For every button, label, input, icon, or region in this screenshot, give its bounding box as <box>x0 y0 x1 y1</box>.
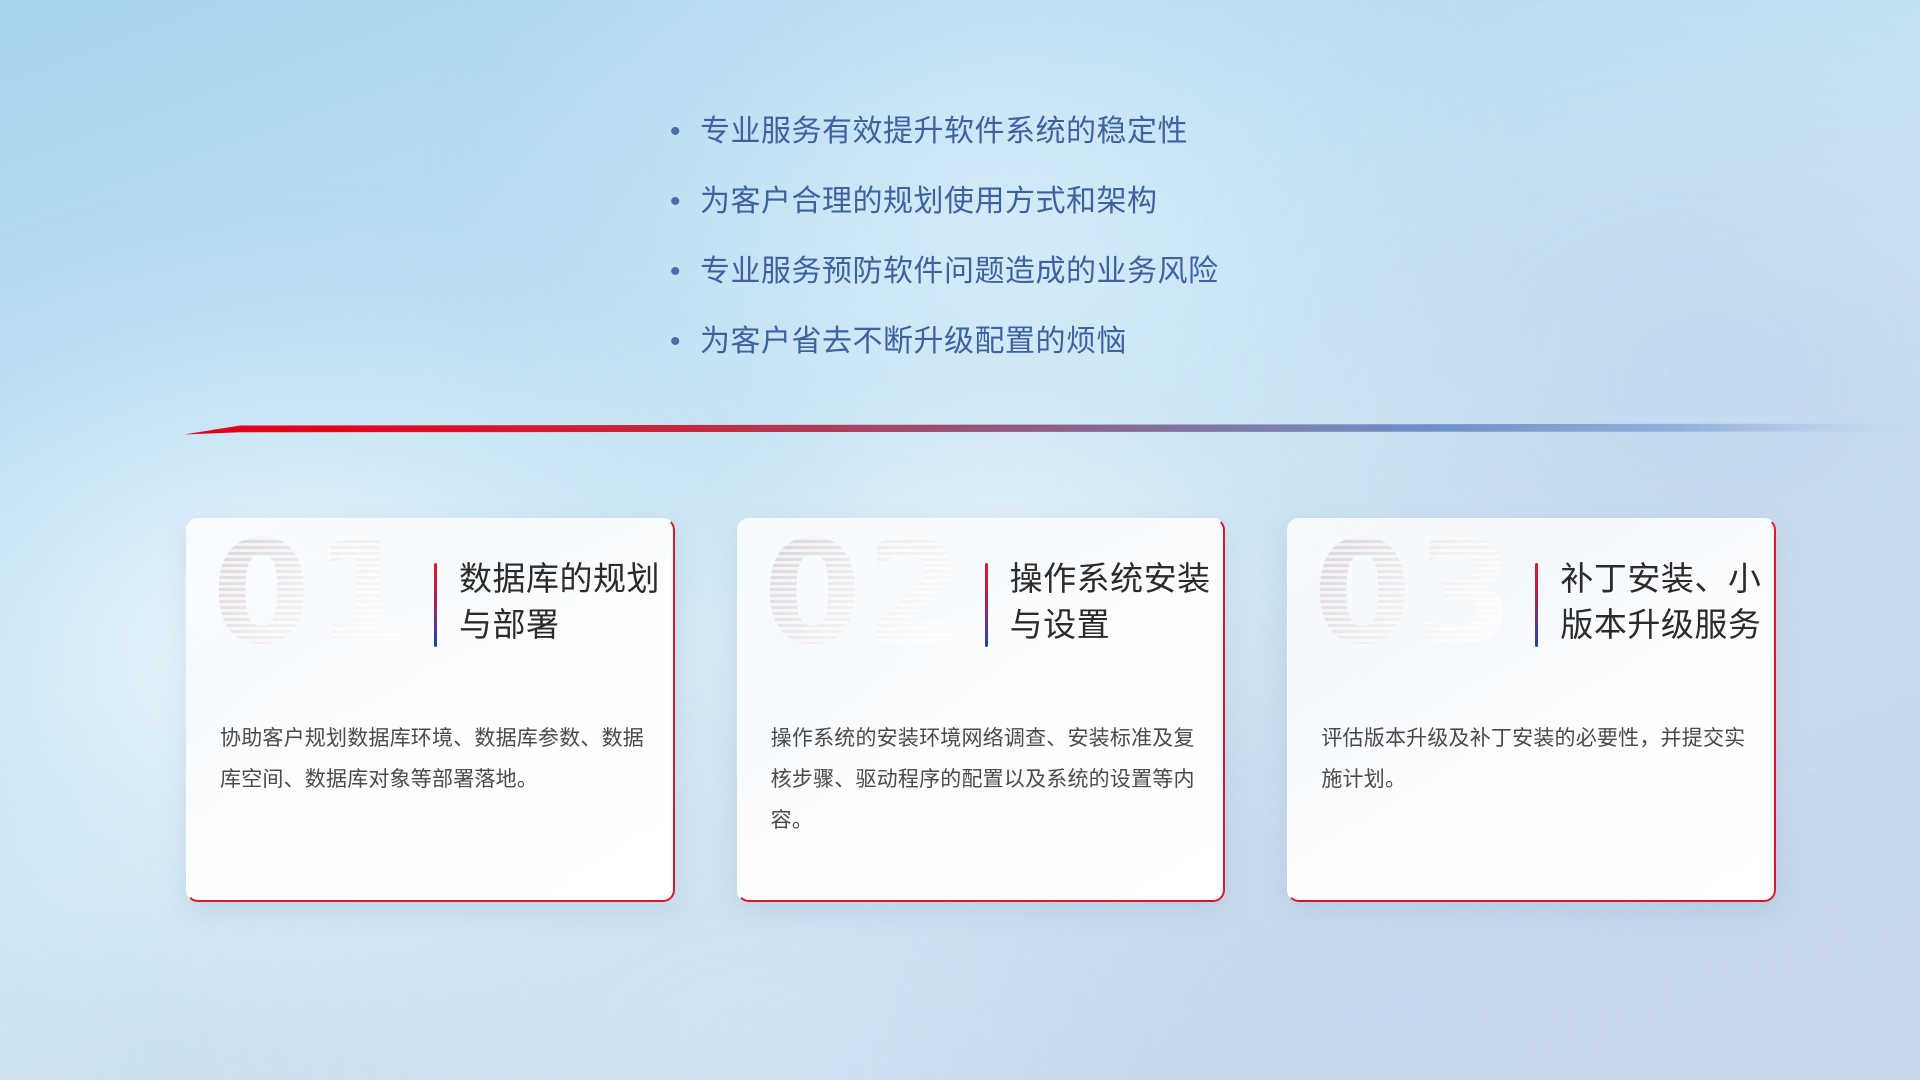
striped-numeral-graphic: 03 <box>1313 534 1503 664</box>
card-number-02-decoration: 02 <box>763 534 953 664</box>
card-body-text: 协助客户规划数据库环境、数据库参数、数据库空间、数据库对象等部署落地。 <box>220 718 649 800</box>
striped-numeral-graphic: 02 <box>763 534 953 664</box>
service-card-01[interactable]: 01 数据库的规划与部署 协助客户规划数据库环境、数据库参数、数据库空间、数据库… <box>186 518 675 902</box>
card-accent-rule <box>434 563 437 647</box>
list-item: • 专业服务有效提升软件系统的稳定性 <box>668 110 1568 154</box>
card-title: 操作系统安装与设置 <box>1010 556 1224 648</box>
list-item: • 为客户合理的规划使用方式和架构 <box>668 180 1568 224</box>
bullet-point-icon: • <box>668 320 700 364</box>
bullet-list: • 专业服务有效提升软件系统的稳定性 • 为客户合理的规划使用方式和架构 • 专… <box>668 110 1568 390</box>
card-body-text: 操作系统的安装环境网络调查、安装标准及复核步骤、驱动程序的配置以及系统的设置等内… <box>771 718 1200 841</box>
bullet-point-icon: • <box>668 110 700 154</box>
service-card-03[interactable]: 03 补丁安装、小版本升级服务 评估版本升级及补丁安装的必要性，并提交实施计划。 <box>1287 518 1776 902</box>
card-header: 操作系统安装与设置 <box>985 556 1224 648</box>
service-card-02[interactable]: 02 操作系统安装与设置 操作系统的安装环境网络调查、安装标准及复核步骤、驱动程… <box>737 518 1226 902</box>
card-row: 01 数据库的规划与部署 协助客户规划数据库环境、数据库参数、数据库空间、数据库… <box>186 518 1776 918</box>
bullet-text: 为客户省去不断升级配置的烦恼 <box>700 320 1127 364</box>
card-surface: 02 操作系统安装与设置 操作系统的安装环境网络调查、安装标准及复核步骤、驱动程… <box>737 518 1226 902</box>
card-accent-rule <box>1535 563 1538 647</box>
card-number-01-decoration: 01 <box>212 534 402 664</box>
list-item: • 为客户省去不断升级配置的烦恼 <box>668 320 1568 364</box>
divider-graphic <box>0 418 1920 444</box>
card-title: 补丁安装、小版本升级服务 <box>1560 556 1774 648</box>
striped-numeral-graphic: 01 <box>212 534 402 664</box>
list-item: • 专业服务预防软件问题造成的业务风险 <box>668 250 1568 294</box>
bullet-point-icon: • <box>668 250 700 294</box>
card-body-text: 评估版本升级及补丁安装的必要性，并提交实施计划。 <box>1321 718 1750 800</box>
card-surface: 01 数据库的规划与部署 协助客户规划数据库环境、数据库参数、数据库空间、数据库… <box>186 518 675 902</box>
card-number-03-decoration: 03 <box>1313 534 1503 664</box>
bullet-text: 专业服务预防软件问题造成的业务风险 <box>700 250 1219 294</box>
card-header: 补丁安装、小版本升级服务 <box>1535 556 1774 648</box>
card-accent-rule <box>985 563 988 647</box>
bullet-text: 专业服务有效提升软件系统的稳定性 <box>700 110 1188 154</box>
card-header: 数据库的规划与部署 <box>434 556 673 648</box>
card-title: 数据库的规划与部署 <box>459 556 673 648</box>
bullet-point-icon: • <box>668 180 700 224</box>
section-divider <box>0 418 1920 444</box>
card-surface: 03 补丁安装、小版本升级服务 评估版本升级及补丁安装的必要性，并提交实施计划。 <box>1287 518 1776 902</box>
bullet-text: 为客户合理的规划使用方式和架构 <box>700 180 1158 224</box>
